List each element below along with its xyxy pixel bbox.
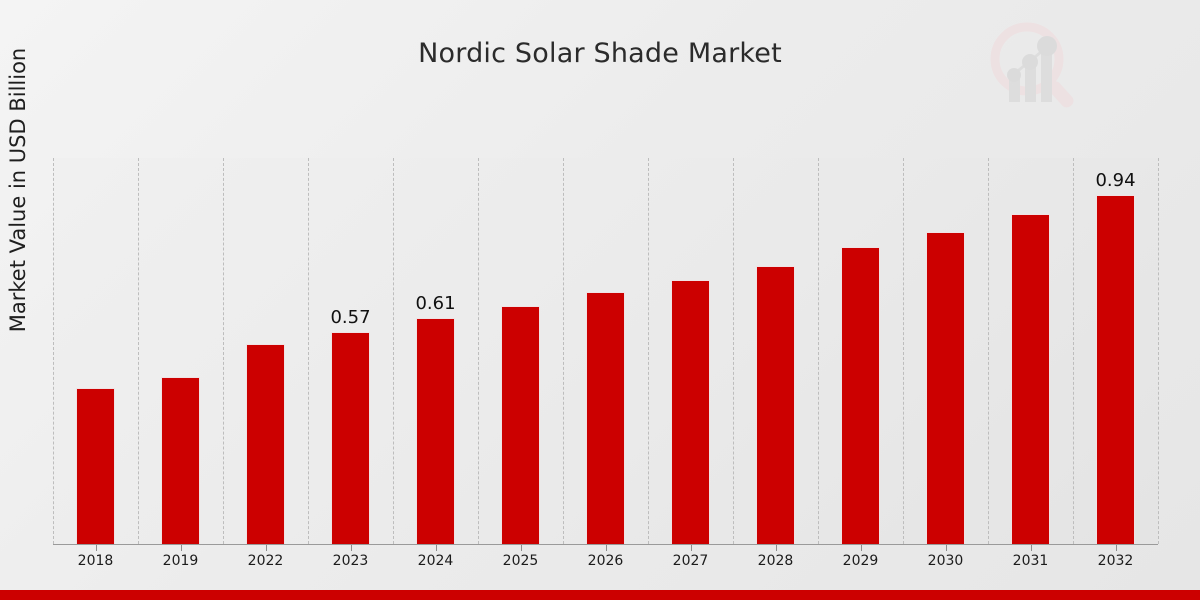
footer-band — [0, 590, 1200, 600]
bar-2027[interactable] — [671, 280, 710, 544]
x-axis-tick — [351, 545, 352, 551]
bar-2019[interactable] — [161, 377, 200, 544]
magnifier-bar-chart-logo-icon — [980, 14, 1084, 114]
x-tick-label-2023: 2023 — [308, 553, 393, 569]
gridline — [733, 158, 734, 544]
x-axis-tick — [776, 545, 777, 551]
gridline — [648, 158, 649, 544]
bar-2023[interactable] — [331, 332, 370, 544]
bar-2026[interactable] — [586, 292, 625, 544]
x-tick-label-2030: 2030 — [903, 553, 988, 569]
x-tick-label-2026: 2026 — [563, 553, 648, 569]
x-axis-tick — [436, 545, 437, 551]
bar-value-label-2024: 0.61 — [393, 293, 478, 314]
gridline — [393, 158, 394, 544]
x-axis-tick — [181, 545, 182, 551]
gridline — [563, 158, 564, 544]
gridline — [223, 158, 224, 544]
gridline — [138, 158, 139, 544]
x-tick-label-2019: 2019 — [138, 553, 223, 569]
gridline — [1073, 158, 1074, 544]
bar-2031[interactable] — [1011, 214, 1050, 544]
x-axis-tick — [96, 545, 97, 551]
x-tick-label-2027: 2027 — [648, 553, 733, 569]
x-tick-label-2031: 2031 — [988, 553, 1073, 569]
x-axis-tick — [691, 545, 692, 551]
gridline — [818, 158, 819, 544]
x-tick-label-2022: 2022 — [223, 553, 308, 569]
x-tick-label-2029: 2029 — [818, 553, 903, 569]
gridline — [53, 158, 54, 544]
x-tick-label-2024: 2024 — [393, 553, 478, 569]
bar-2028[interactable] — [756, 266, 795, 544]
x-tick-label-2018: 2018 — [53, 553, 138, 569]
x-axis-tick — [521, 545, 522, 551]
gridline — [1158, 158, 1159, 544]
bar-2032[interactable] — [1096, 195, 1135, 544]
chart-container: Nordic Solar Shade Market Market Value i… — [0, 0, 1200, 600]
gridline — [988, 158, 989, 544]
bar-2025[interactable] — [501, 306, 540, 544]
bar-value-label-2023: 0.57 — [308, 307, 393, 328]
gridline — [903, 158, 904, 544]
x-axis-tick — [861, 545, 862, 551]
bar-value-label-2032: 0.94 — [1073, 170, 1158, 191]
bar-2029[interactable] — [841, 247, 880, 544]
x-axis-tick — [1116, 545, 1117, 551]
bar-2022[interactable] — [246, 344, 285, 544]
x-axis-tick — [1031, 545, 1032, 551]
x-axis-tick — [946, 545, 947, 551]
y-axis-title: Market Value in USD Billion — [0, 0, 36, 390]
gridline — [478, 158, 479, 544]
bar-2024[interactable] — [416, 318, 455, 544]
bar-2030[interactable] — [926, 232, 965, 544]
bar-2018[interactable] — [76, 388, 115, 544]
x-axis-tick — [266, 545, 267, 551]
x-tick-label-2025: 2025 — [478, 553, 563, 569]
x-tick-label-2028: 2028 — [733, 553, 818, 569]
x-tick-label-2032: 2032 — [1073, 553, 1158, 569]
x-axis-tick — [606, 545, 607, 551]
gridline — [308, 158, 309, 544]
